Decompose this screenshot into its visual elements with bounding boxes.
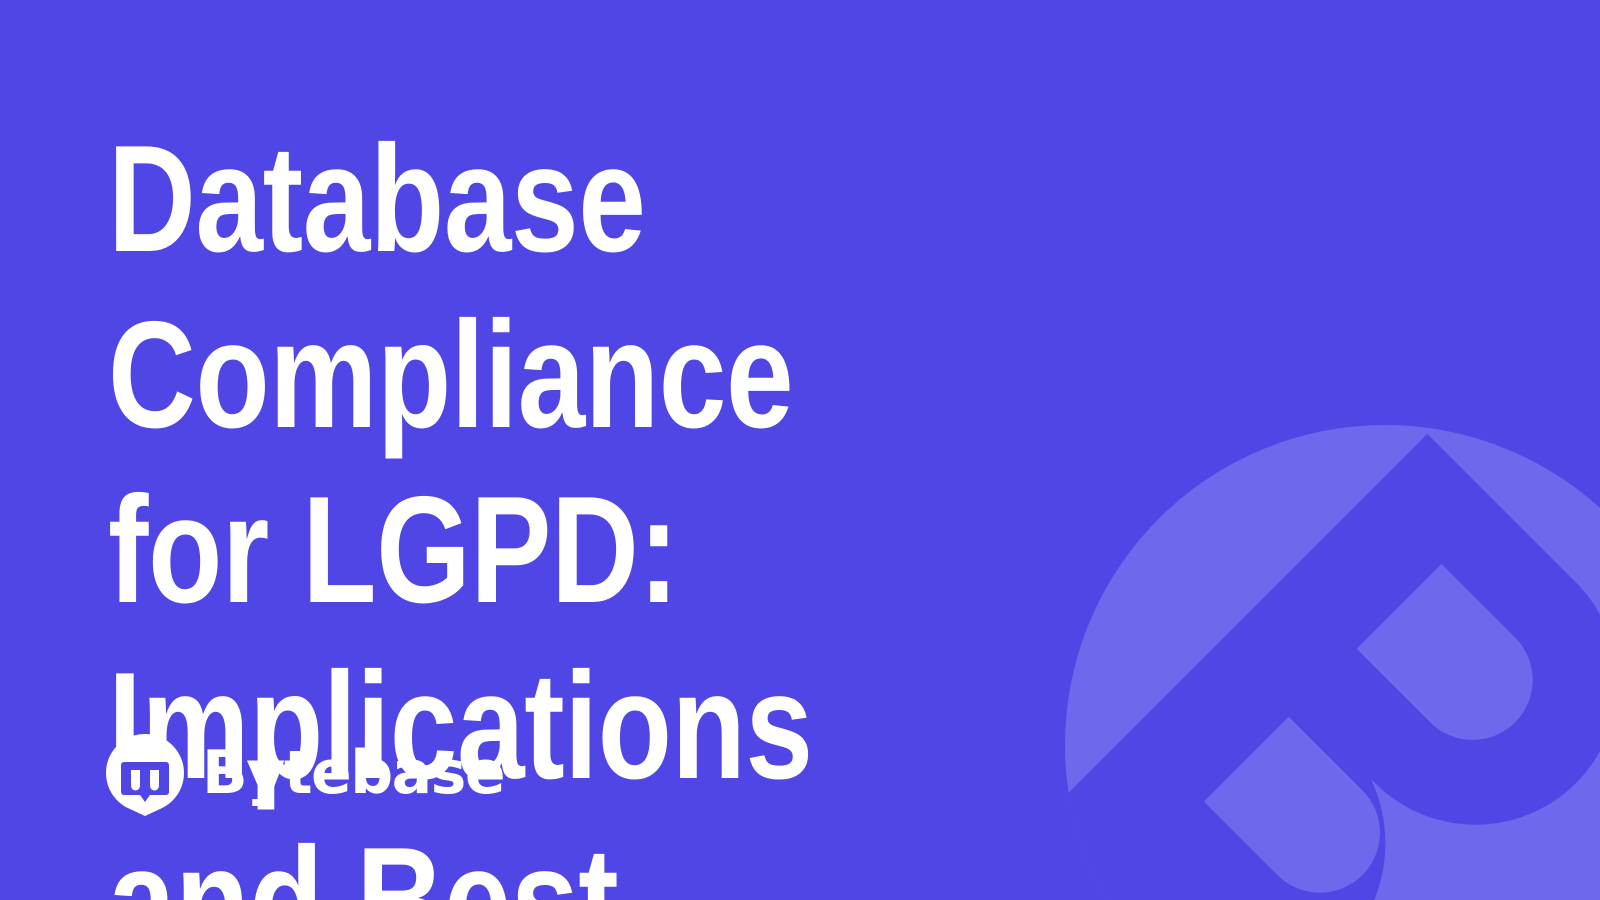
blog-cover-card: Database Compliance for LGPD: Implicatio…: [0, 0, 1600, 900]
brand-lockup: Bytebase: [106, 734, 504, 816]
bytebase-logo-icon: [106, 734, 184, 816]
brand-name: Bytebase: [202, 743, 504, 803]
